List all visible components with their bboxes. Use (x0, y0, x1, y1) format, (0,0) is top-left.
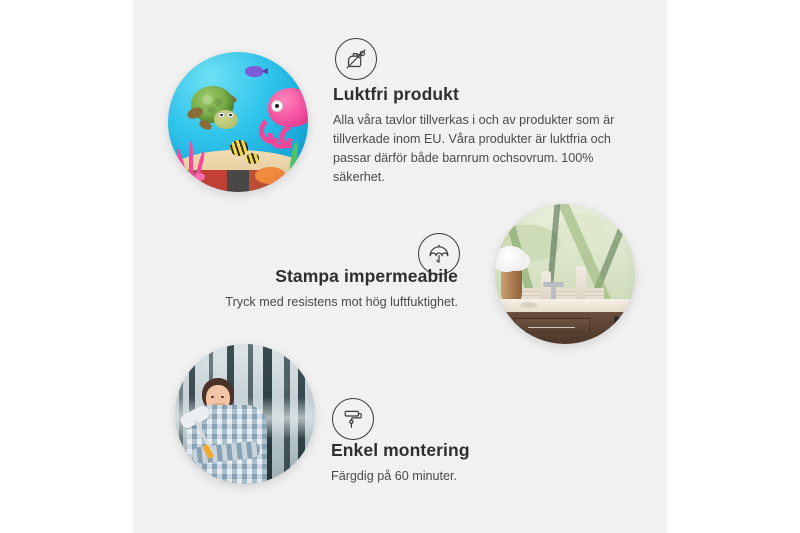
starfish-decoration (255, 167, 286, 184)
woman-figure (183, 378, 270, 484)
feature-text-easy-install: Enkel montering Färgdig på 60 minuter. (331, 440, 611, 486)
infographic-panel: Luktfri produkt Alla våra tavlor tillver… (133, 0, 667, 533)
underwater-cartoon-scene-photo (168, 52, 308, 192)
no-perfume-icon (335, 38, 377, 80)
purple-fish (245, 66, 263, 77)
paint-roller-icon (332, 398, 374, 440)
feature-description: Alla våra tavlor tillverkas i och av pro… (333, 111, 633, 188)
butterfly-fish-small (246, 153, 259, 164)
woman-with-roller-forest-mural-photo (175, 344, 315, 484)
feature-title: Luktfri produkt (333, 84, 633, 105)
coral-decoration (178, 139, 220, 181)
toiletry-bottle-right (576, 266, 586, 302)
bathroom-tropical-wallpaper-photo (495, 204, 635, 344)
butterfly-fish-large (230, 140, 248, 155)
infographic-page: Luktfri produkt Alla våra tavlor tillver… (0, 0, 800, 533)
feature-text-odour-free: Luktfri produkt Alla våra tavlor tillver… (333, 84, 633, 188)
pink-octopus (258, 88, 308, 150)
feature-description: Tryck med resistens mot hög luftfuktighe… (188, 293, 458, 312)
feature-text-water-resistant: Stampa impermeabile Tryck med resistens … (188, 266, 458, 312)
feature-title: Enkel montering (331, 440, 611, 461)
vanity-cabinet (506, 312, 635, 344)
sea-turtle (186, 86, 245, 134)
feature-description: Färgdig på 60 minuter. (331, 467, 611, 486)
white-flower (495, 246, 526, 270)
feature-title: Stampa impermeabile (188, 266, 458, 287)
